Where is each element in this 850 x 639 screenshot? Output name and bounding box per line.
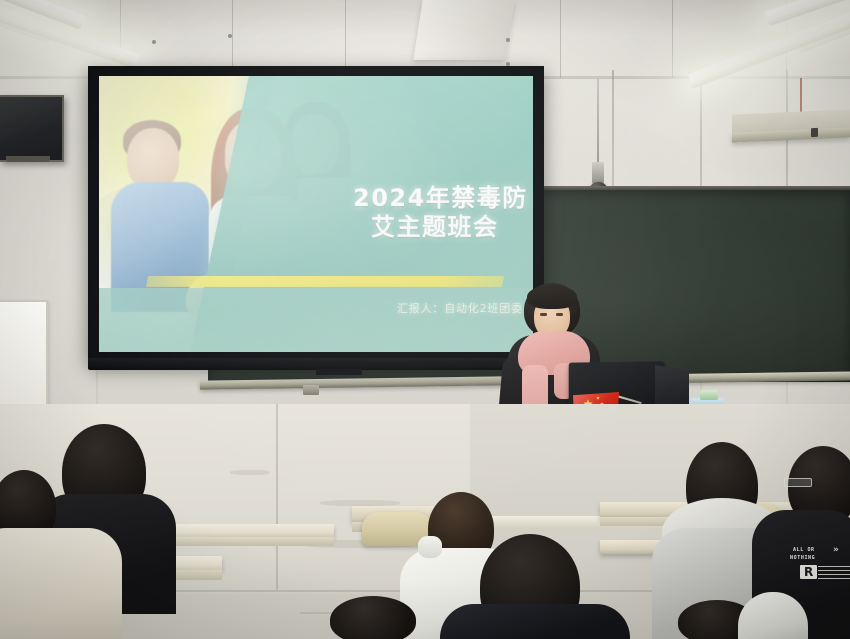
slide-title-line2: 艾主题班会 [371,213,533,242]
chalk-tray-clip [303,385,319,395]
slide-bottom-band [99,288,533,352]
projection-screen-mount [316,369,362,375]
classroom-photo: 2024年禁毒防 艾主题班会 汇报人：自动化2班团委 FUZHOU UNIVER… [0,0,850,639]
jacket-print-line2: NOTHING [790,555,815,561]
glasses-icon [784,478,812,487]
microphone-clip [592,162,604,184]
whiteboard [0,300,48,409]
shelf-bracket [811,128,818,137]
face-mask [418,536,442,558]
presentation-slide: 2024年禁毒防 艾主题班会 汇报人：自动化2班团委 [99,76,533,352]
slide-title: 2024年禁毒防 艾主题班会 [353,184,533,243]
desk [174,524,334,538]
jacket-print-line1: ALL OR [793,547,815,553]
podium-item [700,390,718,400]
wall-display-icon [0,95,64,162]
jacket-chevron: » [833,545,839,555]
slide-title-line1: 2024年禁毒防 [353,184,528,212]
wall-display-mount [6,156,50,162]
ceiling-beam [413,0,515,60]
wall-seam [276,404,278,590]
slide-accent-band [146,276,504,287]
jacket-badge: R [800,565,817,579]
microphone-cable [597,78,599,162]
presenter-fringe [527,285,577,309]
